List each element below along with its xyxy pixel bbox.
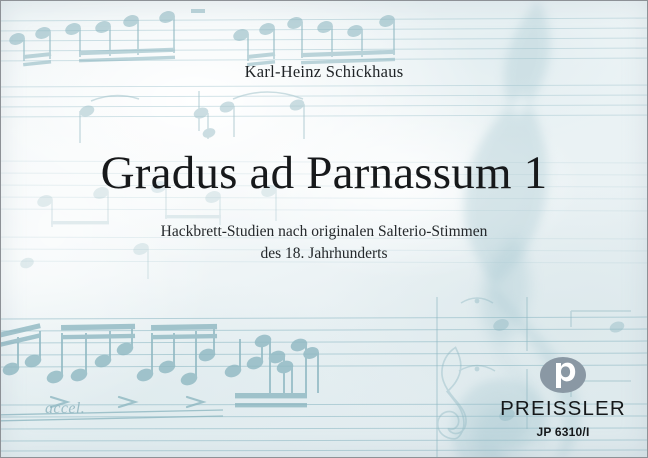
catalog-number: JP 6310/I <box>497 425 629 439</box>
subtitle-line-1: Hackbrett-Studien nach originalen Salter… <box>1 221 647 243</box>
publisher-block: PREISSLER JP 6310/I <box>497 355 629 439</box>
subtitle-line-2: des 18. Jahrhunderts <box>1 243 647 265</box>
book-subtitle: Hackbrett-Studien nach originalen Salter… <box>1 221 647 265</box>
preissler-logo-icon <box>540 355 586 395</box>
book-cover: accel. Karl-Heinz Schickhaus Gradus ad P… <box>0 0 648 458</box>
book-title: Gradus ad Parnassum 1 <box>1 149 647 198</box>
publisher-name: PREISSLER <box>497 398 629 421</box>
author-name: Karl-Heinz Schickhaus <box>1 62 647 82</box>
